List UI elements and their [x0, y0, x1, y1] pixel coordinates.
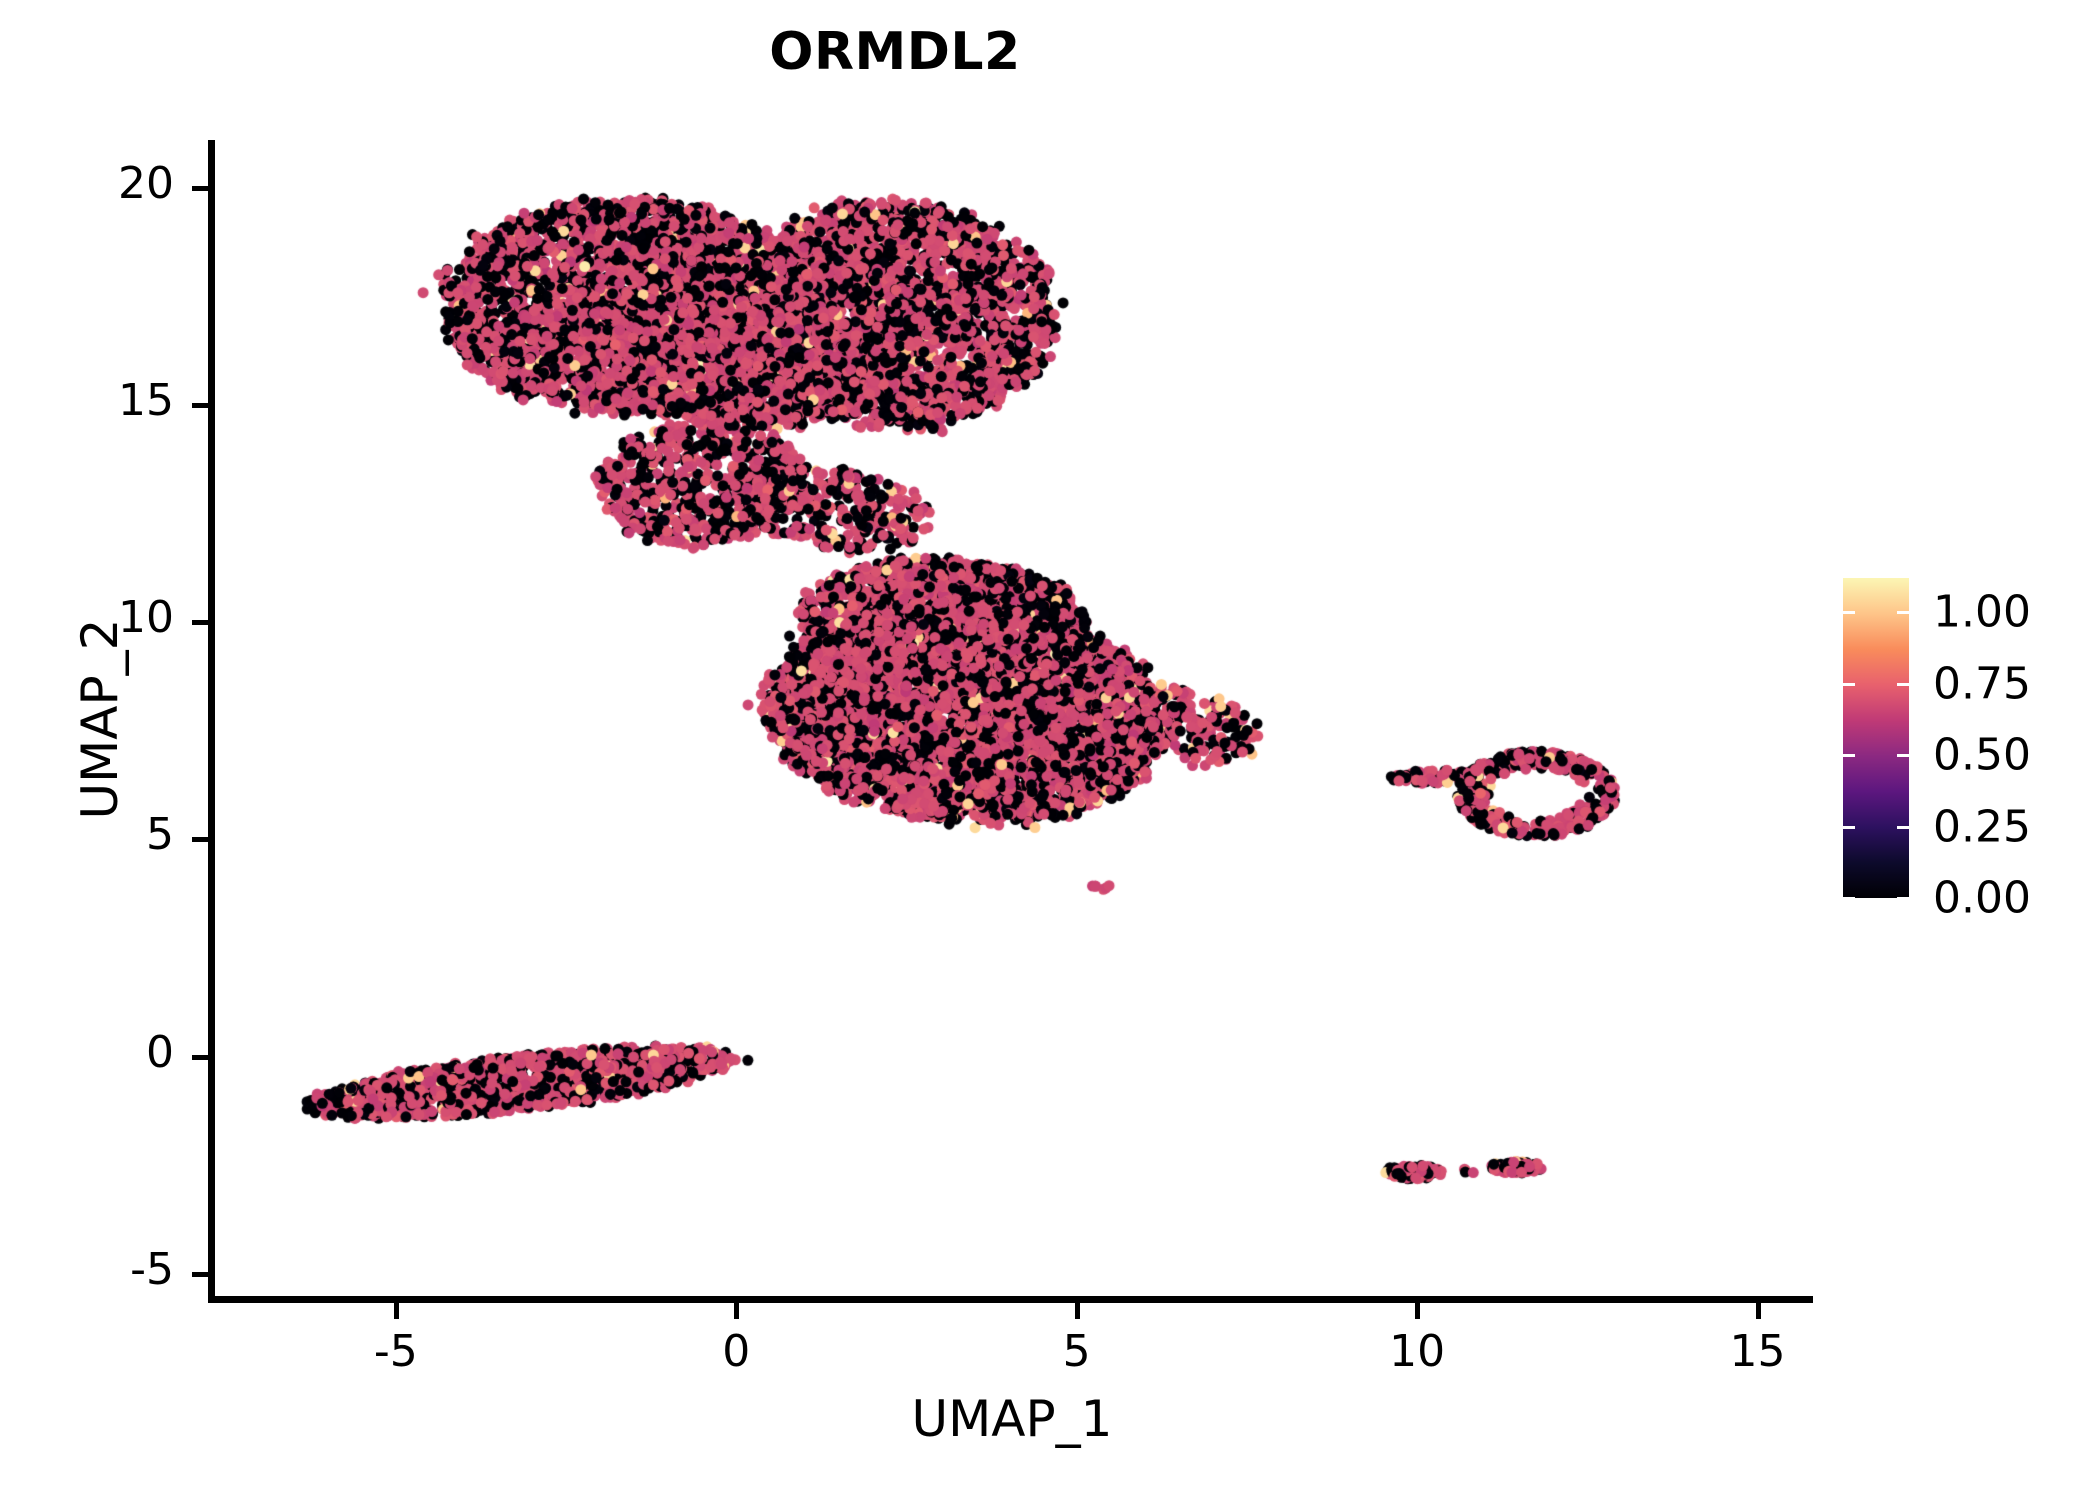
x-axis-label: UMAP_1 [212, 1390, 1812, 1448]
y-tick-label-text: 5 [146, 809, 174, 860]
colorbar-tick-label: 0.00 [1933, 873, 2031, 924]
axis-spine-left [208, 140, 215, 1302]
colorbar-tick-label: 0.50 [1933, 730, 2031, 781]
y-tick-mark [192, 403, 209, 408]
x-tick-mark [1756, 1302, 1761, 1319]
x-tick-label-text: 10 [1389, 1326, 1445, 1377]
y-tick-mark [192, 837, 209, 842]
colorbar-tick-mark [1843, 826, 1855, 829]
y-tick-mark [192, 620, 209, 625]
x-tick-mark [1075, 1302, 1080, 1319]
x-tick-label-text: 15 [1730, 1326, 1786, 1377]
colorbar-tick-label: 0.25 [1933, 801, 2031, 852]
colorbar: 1.000.750.500.250.00 [1843, 578, 1909, 898]
y-tick-label-text: 20 [118, 158, 174, 209]
colorbar-tick-mark [1897, 897, 1909, 900]
x-tick-label-text: 0 [722, 1326, 750, 1377]
colorbar-tick-mark [1897, 826, 1909, 829]
x-tick-label-text: -5 [374, 1326, 418, 1377]
y-tick-label-text: 0 [146, 1027, 174, 1078]
colorbar-gradient [1843, 578, 1909, 898]
colorbar-tick-mark [1897, 683, 1909, 686]
plot-axes: -5051015-505101520 [212, 140, 1812, 1300]
colorbar-tick-mark [1897, 611, 1909, 614]
colorbar-tick-mark [1843, 611, 1855, 614]
colorbar-tick-label: 0.75 [1933, 658, 2031, 709]
page-title: ORMDL2 [0, 22, 1790, 82]
colorbar-tick-mark [1843, 754, 1855, 757]
y-tick-mark [192, 186, 209, 191]
colorbar-tick-mark [1843, 683, 1855, 686]
scatter-plot-canvas [212, 140, 1812, 1300]
y-axis-label: UMAP_2 [71, 319, 129, 1119]
colorbar-tick-mark [1897, 754, 1909, 757]
x-tick-mark [1415, 1302, 1420, 1319]
colorbar-tick-label: 1.00 [1933, 587, 2031, 638]
figure-root: ORMDL2 -5051015-505101520 UMAP_1 UMAP_2 … [0, 0, 2100, 1500]
x-tick-mark [394, 1302, 399, 1319]
axis-spine-bottom [208, 1296, 1813, 1303]
y-tick-mark [192, 1272, 209, 1277]
colorbar-tick-mark [1843, 897, 1855, 900]
x-tick-label-text: 5 [1063, 1326, 1091, 1377]
x-tick-mark [734, 1302, 739, 1319]
y-tick-mark [192, 1055, 209, 1060]
y-tick-label-text: -5 [130, 1244, 174, 1295]
